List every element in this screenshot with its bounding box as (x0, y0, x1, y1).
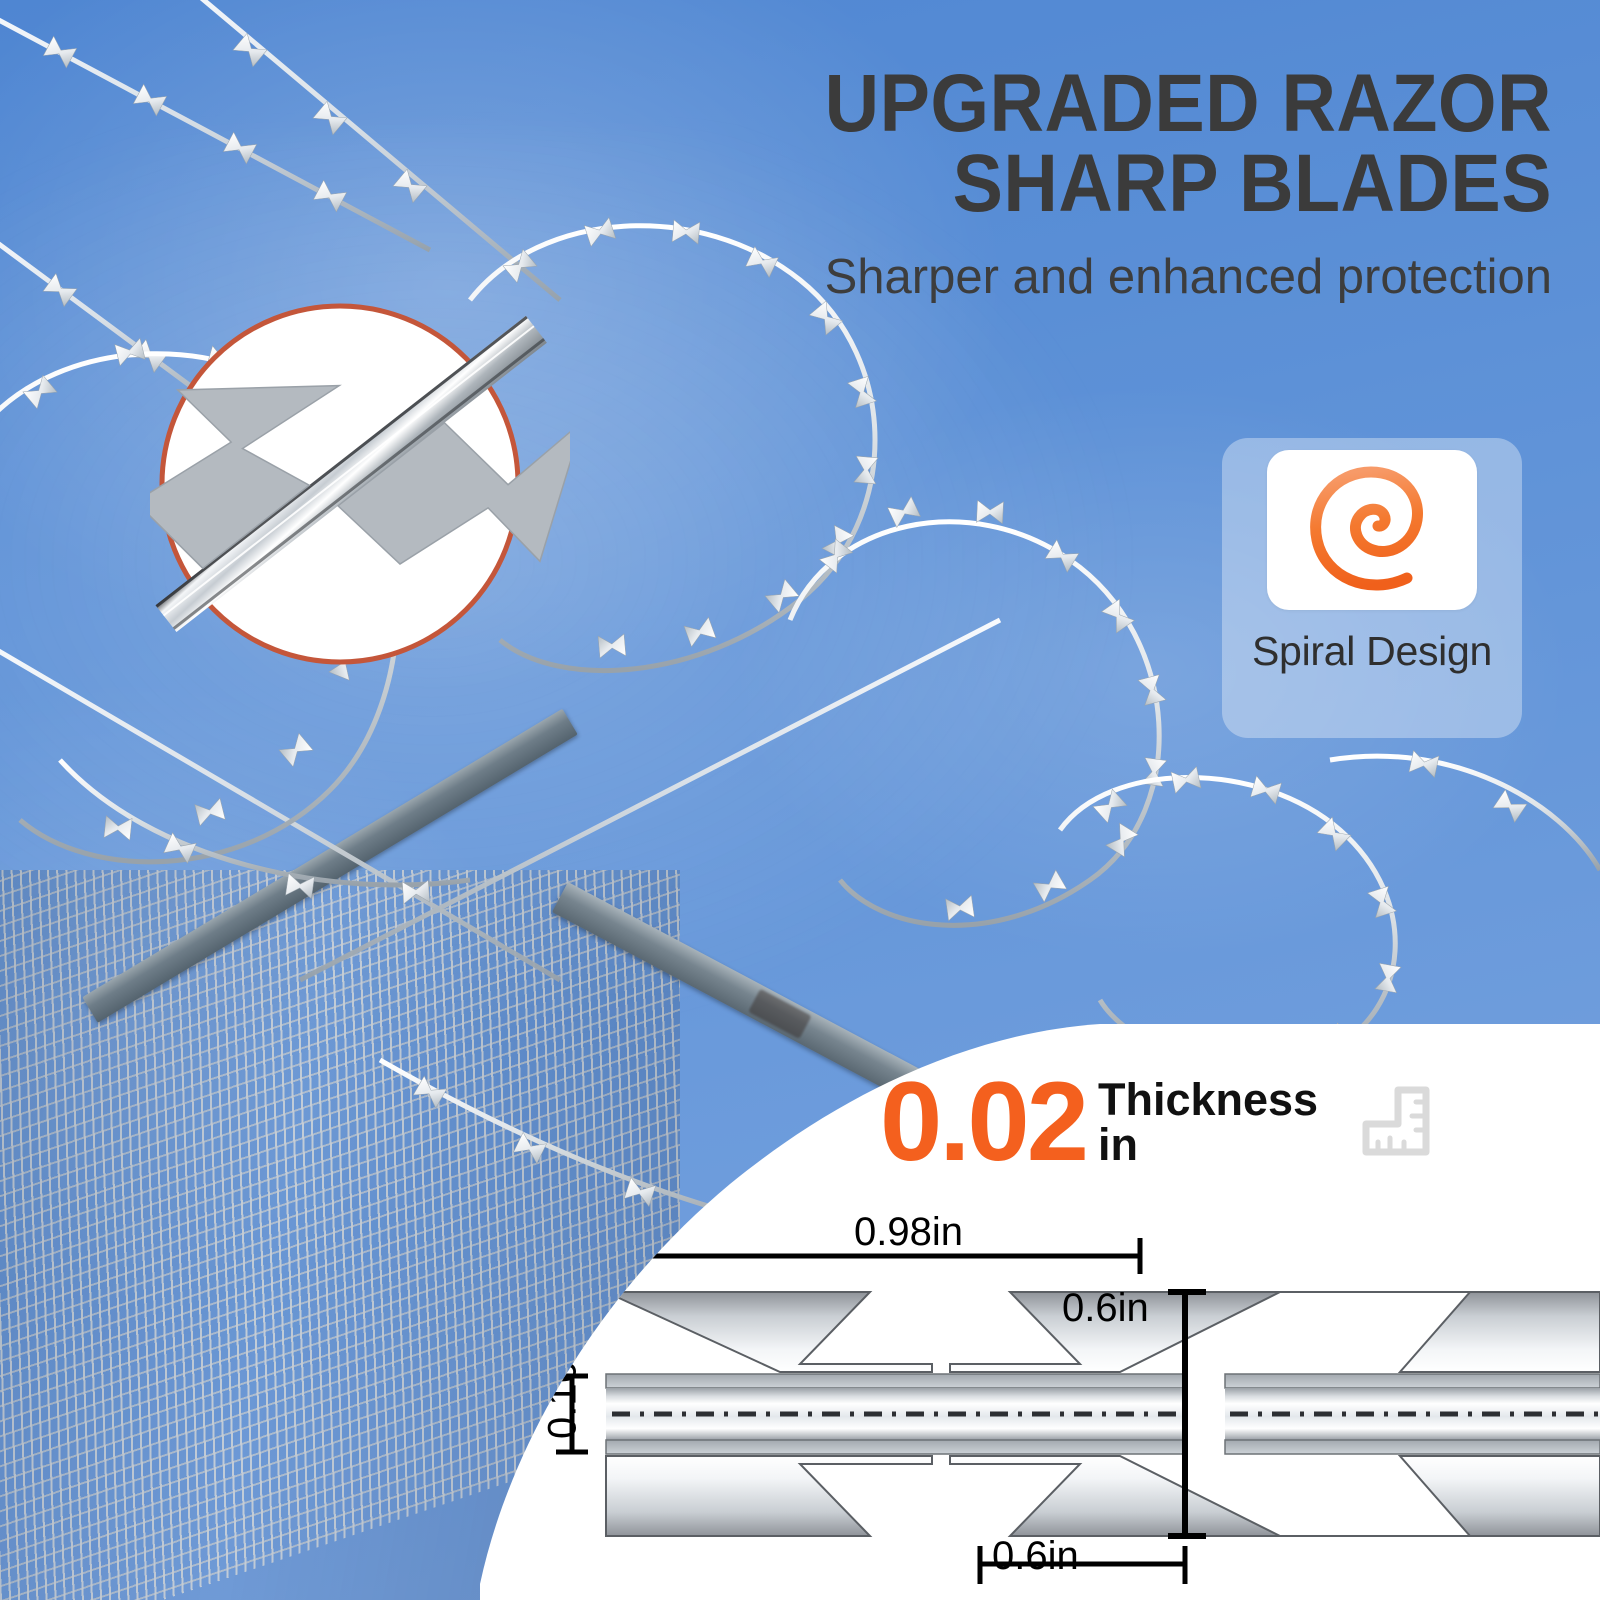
dim-label-barb-height: 0.6in (1062, 1286, 1149, 1331)
headline-subtitle: Sharper and enhanced protection (732, 251, 1552, 304)
thickness-label: Thickness in (1098, 1077, 1318, 1167)
page-title: UPGRADED RAZOR SHARP BLADES (798, 64, 1552, 225)
badge-label: Spiral Design (1252, 628, 1492, 675)
headline-line-1: UPGRADED RAZOR (825, 58, 1552, 149)
thickness-unit: in (1098, 1122, 1318, 1167)
product-infographic: UPGRADED RAZOR SHARP BLADES Sharper and … (0, 0, 1600, 1600)
headline-block: UPGRADED RAZOR SHARP BLADES Sharper and … (732, 64, 1552, 304)
badge-icon-card (1267, 450, 1477, 610)
ruler-square-icon (1352, 1080, 1436, 1164)
blade-magnifier-callout (150, 288, 570, 728)
dim-label-barb-spacing: 0.6in (992, 1534, 1079, 1579)
thickness-word: Thickness (1098, 1074, 1318, 1125)
headline-line-2: SHARP BLADES (798, 144, 1552, 224)
spiral-icon (1297, 460, 1447, 600)
thickness-callout: 0.02 Thickness in (880, 1072, 1436, 1173)
spiral-design-badge[interactable]: Spiral Design (1222, 438, 1522, 738)
thickness-value: 0.02 (880, 1072, 1086, 1173)
dim-label-barb-length: 0.98in (854, 1210, 963, 1255)
